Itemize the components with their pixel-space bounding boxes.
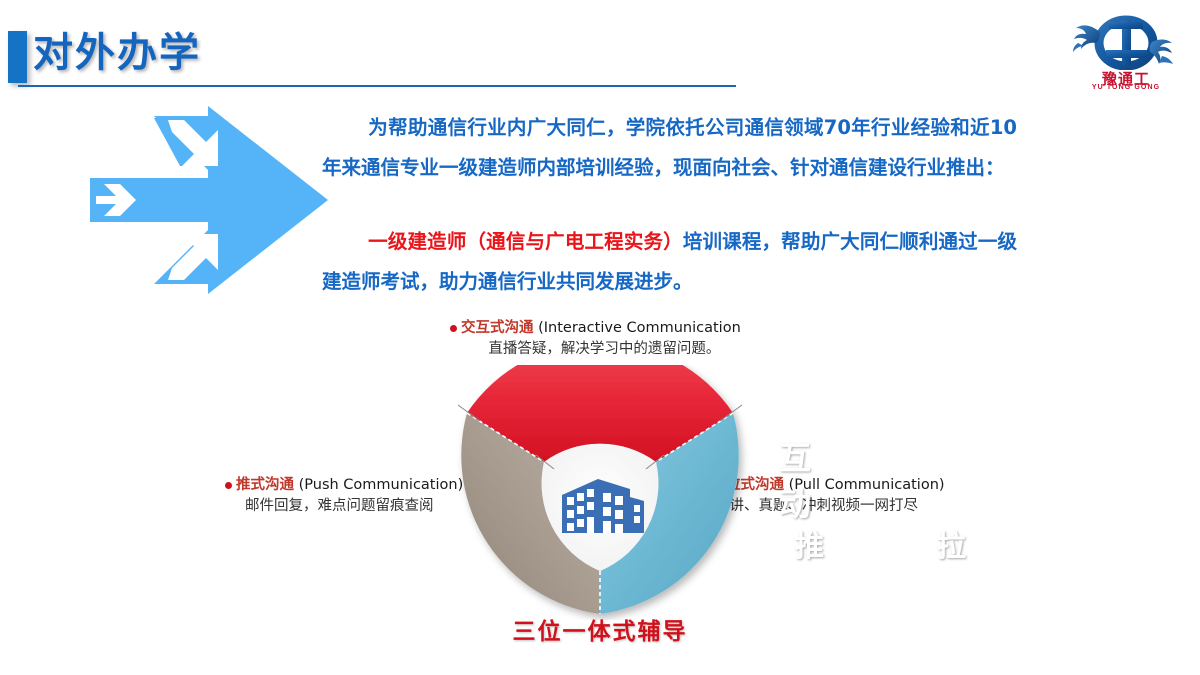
segment-text-pull: 拉	[937, 523, 966, 565]
diagram-label-push: 推式沟通 (Push Communication) 邮件回复，难点问题留痕查阅	[225, 475, 463, 517]
label-pull-en: (Pull Communication)	[789, 477, 945, 493]
slide-header: 对外办学	[0, 0, 1200, 95]
diagram-label-interactive: 交互式沟通 (Interactive Communication 直播答疑，解决…	[450, 318, 741, 360]
page-title: 对外办学	[33, 28, 201, 78]
intro-paragraph: 为帮助通信行业内广大同仁，学院依托公司通信领域70年行业经验和近10年来通信专业…	[322, 108, 1017, 188]
right-arrow-graphic	[88, 100, 336, 300]
bullet-dot-icon	[450, 325, 457, 332]
label-push-desc: 邮件回复，难点问题留痕查阅	[245, 496, 463, 517]
label-push-cn: 推式沟通	[236, 477, 294, 493]
title-underline	[18, 85, 736, 87]
reuleaux-triangle-graphic	[450, 365, 750, 620]
title-accent-bar	[8, 31, 27, 83]
slide-canvas: 对外办学	[0, 0, 1200, 675]
course-name-highlight: 一级建造师（通信与广电工程实务）	[368, 230, 683, 253]
label-interactive-cn: 交互式沟通	[461, 320, 534, 336]
bullet-dot-icon-2	[225, 482, 232, 489]
company-logo: 豫通工 YU TONG GONG	[1066, 12, 1186, 92]
three-in-one-diagram: 交互式沟通 (Interactive Communication 直播答疑，解决…	[170, 310, 1030, 660]
intro-paragraph-text: 为帮助通信行业内广大同仁，学院依托公司通信领域70年行业经验和近10年来通信专业…	[322, 116, 1017, 179]
diagram-caption: 三位一体式辅导	[170, 612, 1030, 646]
tri-segment-shape: 互动 推 拉	[450, 365, 750, 620]
logo-name-en: YU TONG GONG	[1066, 84, 1186, 91]
course-paragraph: 一级建造师（通信与广电工程实务）培训课程，帮助广大同仁顺利通过一级建造师考试，助…	[322, 222, 1017, 302]
label-push-en: (Push Communication)	[299, 477, 464, 493]
label-interactive-en: (Interactive Communication	[538, 320, 741, 336]
dragon-circle-logo-icon	[1066, 12, 1186, 70]
right-arrow-converging-icon	[88, 100, 336, 300]
label-interactive-desc: 直播答疑，解决学习中的遗留问题。	[468, 339, 741, 360]
segment-text-push: 推	[795, 523, 824, 565]
